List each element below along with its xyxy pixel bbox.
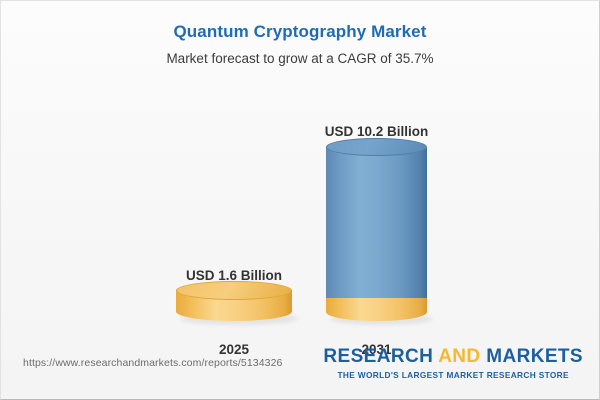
chart-plot-area: USD 1.6 Billion 2025 USD 10.2 Billion bbox=[1, 83, 600, 343]
logo-word-research: RESEARCH bbox=[323, 346, 433, 367]
cylinder-body-2031 bbox=[326, 147, 427, 298]
bar-value-label-2031: USD 10.2 Billion bbox=[325, 124, 429, 139]
brand-logo[interactable]: RESEARCH AND MARKETS THE WORLD'S LARGEST… bbox=[323, 346, 583, 380]
chart-header: Quantum Cryptography Market Market forec… bbox=[1, 1, 599, 68]
page-title: Quantum Cryptography Market bbox=[1, 21, 599, 43]
logo-tagline: THE WORLD'S LARGEST MARKET RESEARCH STOR… bbox=[323, 370, 583, 380]
logo-word-markets: MARKETS bbox=[486, 346, 583, 367]
chart-subtitle: Market forecast to grow at a CAGR of 35.… bbox=[1, 50, 599, 68]
market-forecast-infographic: Quantum Cryptography Market Market forec… bbox=[0, 0, 600, 400]
bar-group-2031[interactable]: USD 10.2 Billion 2031 bbox=[326, 83, 427, 343]
source-url-link[interactable]: https://www.researchandmarkets.com/repor… bbox=[23, 357, 282, 369]
cylinder-top-ellipse-2031 bbox=[326, 138, 427, 156]
bar-group-2025[interactable]: USD 1.6 Billion 2025 bbox=[176, 83, 292, 343]
cylinder-bar-2025[interactable] bbox=[176, 281, 292, 321]
chart-footer: https://www.researchandmarkets.com/repor… bbox=[1, 343, 599, 399]
logo-word-and: AND bbox=[438, 346, 480, 367]
cylinder-bar-2031[interactable] bbox=[326, 138, 427, 321]
logo-wordmark: RESEARCH AND MARKETS bbox=[323, 346, 583, 368]
cylinder-top-ellipse-2025 bbox=[176, 281, 292, 300]
cylinder-base-band-2031 bbox=[326, 298, 427, 312]
